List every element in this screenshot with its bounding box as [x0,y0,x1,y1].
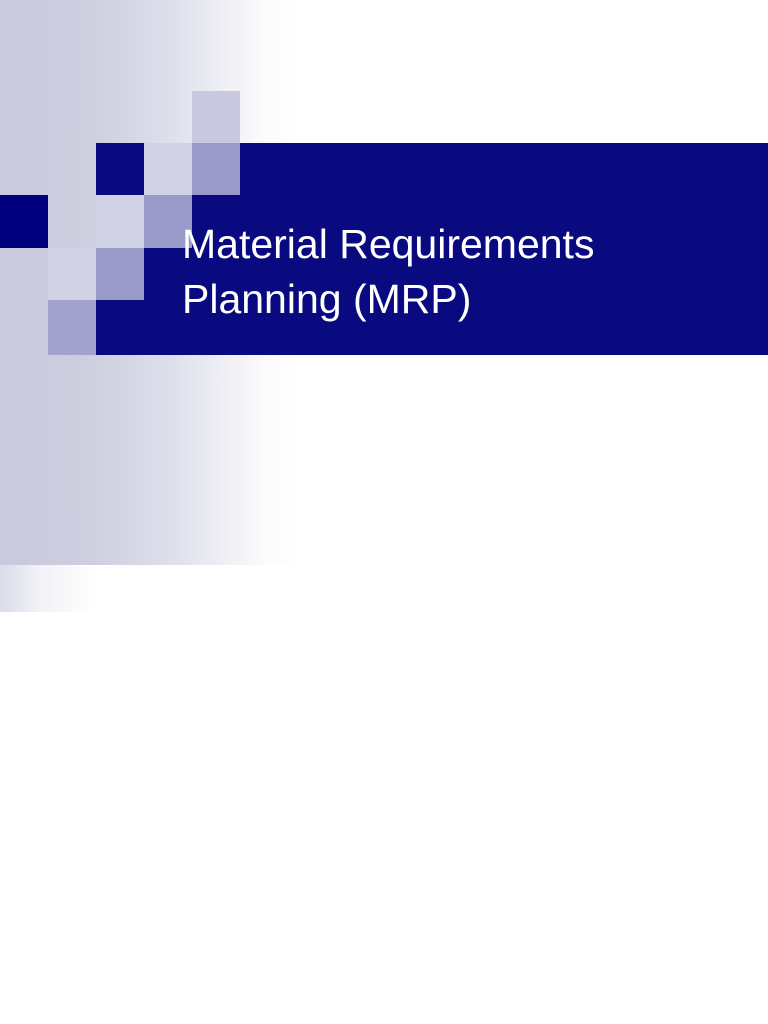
title-slide: Material Requirements Planning (MRP) [0,0,768,612]
section-divider [0,565,768,612]
mosaic-square-mid-row4-right [96,248,144,300]
slide-title-text: Material Requirements Planning (MRP) [182,217,722,327]
mosaic-square-pale-row4-left [48,248,96,300]
mosaic-square-pale-top [192,91,240,143]
mosaic-square-mid-row5 [48,300,96,355]
content-slide: MRP The logic for determining the number… [0,612,768,1024]
mosaic-square-mid-row2-right [192,143,240,195]
mosaic-square-pale-row3-left [96,195,144,248]
mosaic-square-navy-left [0,195,48,248]
presentation-page: Material Requirements Planning (MRP) MRP… [0,0,768,1024]
mosaic-square-pale-row2-left [144,143,192,195]
